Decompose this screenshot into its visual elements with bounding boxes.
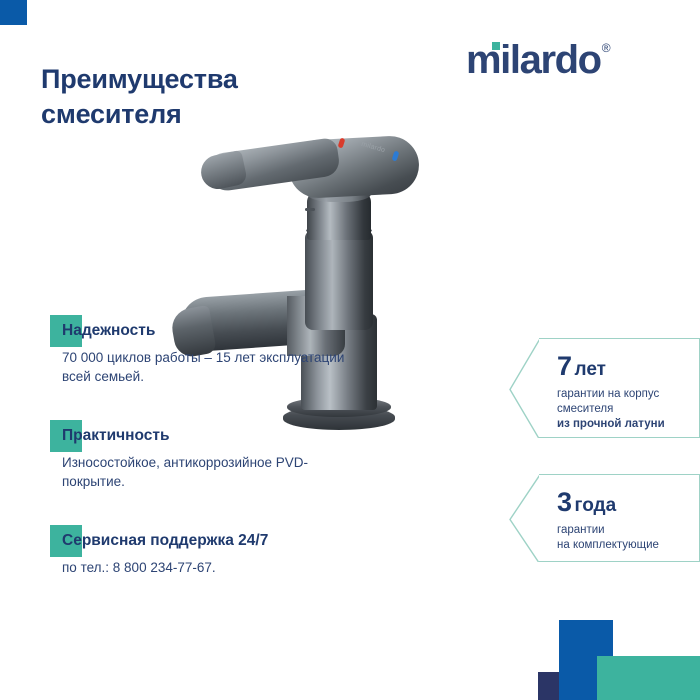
guarantee-term: 7лет: [557, 353, 699, 380]
feature-item-practicality: Практичность Износостойкое, антикоррозий…: [50, 420, 360, 491]
callout-content: 3года гарантии на комплектующие: [539, 475, 699, 553]
product-image-faucet: milardo: [175, 118, 505, 458]
guarantee-line-1: гарантии на корпус: [557, 388, 659, 400]
guarantee-line-1: гарантии: [557, 524, 605, 536]
guarantee-unit: лет: [575, 359, 606, 380]
feature-body: Износостойкое, антикоррозийное PVD-покры…: [50, 447, 360, 491]
feature-heading: Практичность: [50, 420, 360, 447]
brand-logo: milardo ®: [466, 38, 611, 82]
feature-item-support: Сервисная поддержка 24/7 по тел.: 8 800 …: [50, 525, 360, 577]
feature-item-reliability: Надежность 70 000 циклов работы – 15 лет…: [50, 315, 360, 386]
guarantee-description: гарантии на комплектующие: [557, 516, 699, 553]
brand-wordmark: milardo: [466, 38, 601, 82]
faucet-seam: [305, 208, 315, 211]
guarantee-line-2: смесителя: [557, 403, 613, 415]
guarantee-number: 7: [557, 351, 572, 381]
infographic-page: Преимущества смесителя milardo ® milardo…: [0, 0, 700, 700]
guarantee-unit: года: [575, 495, 617, 516]
corner-accent-square: [0, 0, 27, 25]
callout-arrow-icon: [509, 338, 539, 439]
feature-heading: Надежность: [50, 315, 360, 342]
callout-arrow-icon: [509, 474, 539, 563]
decorative-square-teal: [597, 656, 700, 700]
guarantee-term: 3года: [557, 489, 699, 516]
guarantee-number: 3: [557, 487, 572, 517]
callout-content: 7лет гарантии на корпус смесителя из про…: [539, 339, 699, 432]
guarantee-description: гарантии на корпус смесителя из прочной …: [557, 380, 699, 432]
decorative-squares-group: [538, 620, 700, 700]
feature-body: 70 000 циклов работы – 15 лет эксплуатац…: [50, 342, 360, 386]
brand-i-dot-icon: [492, 42, 500, 50]
guarantee-line-2: на комплектующие: [557, 539, 659, 551]
feature-body: по тел.: 8 800 234-77-67.: [50, 552, 360, 577]
guarantee-callout-body: 7лет гарантии на корпус смесителя из про…: [539, 338, 700, 438]
guarantee-line-3: из прочной латуни: [557, 418, 665, 430]
feature-heading: Сервисная поддержка 24/7: [50, 525, 360, 552]
registered-trademark-icon: ®: [602, 42, 611, 54]
guarantee-callout-components: 3года гарантии на комплектующие: [539, 474, 700, 562]
